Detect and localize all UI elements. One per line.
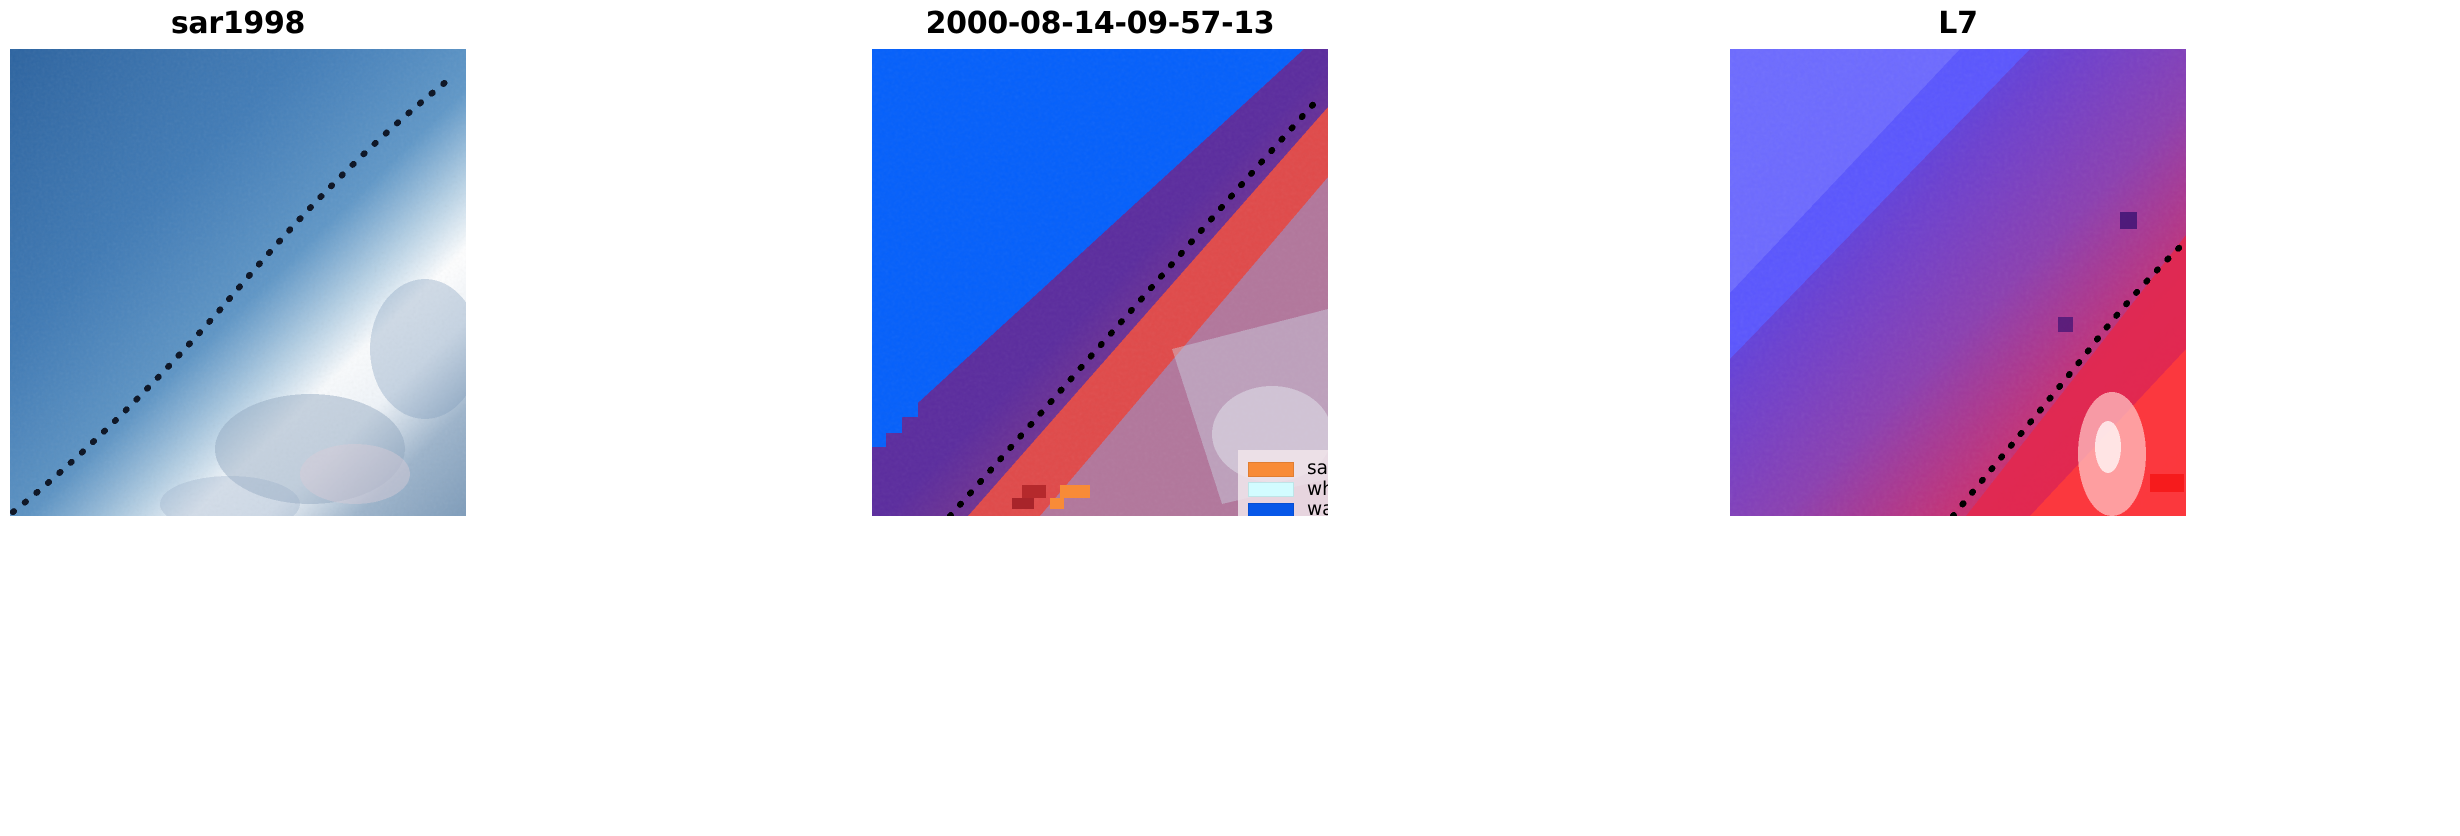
axes-l7[interactable]: [1730, 49, 2186, 516]
legend-item-water: water: [1248, 500, 1328, 516]
legend-item-whitewater: whitewater: [1248, 480, 1328, 500]
legend-item-sand: sand: [1248, 459, 1328, 479]
panel-title-sar1998: sar1998: [10, 2, 466, 46]
panel-l7: L7: [1730, 0, 2186, 836]
panel-sar1998: sar1998: [10, 0, 466, 836]
classified-image: [872, 49, 1328, 516]
legend-swatch-whitewater: [1248, 482, 1294, 497]
panel-classification: 2000-08-14-09-57-13: [872, 0, 1328, 836]
panel-title-l7: L7: [1730, 2, 2186, 46]
false-color-image-l7: [1730, 49, 2186, 516]
legend-swatch-water: [1248, 503, 1294, 517]
shoreline-comparison-figure: sar1998: [0, 0, 2460, 836]
panel-title-classification: 2000-08-14-09-57-13: [872, 2, 1328, 46]
classification-legend[interactable]: sand whitewater water shoreline referenc…: [1238, 450, 1328, 516]
legend-label-sand: sand: [1307, 459, 1328, 479]
sar-image-sar1998: [10, 49, 466, 516]
legend-label-water: water: [1307, 500, 1328, 516]
legend-swatch-sand: [1248, 462, 1294, 477]
axes-sar1998[interactable]: [10, 49, 466, 516]
legend-label-whitewater: whitewater: [1307, 480, 1328, 500]
axes-classification[interactable]: sand whitewater water shoreline referenc…: [872, 49, 1328, 516]
